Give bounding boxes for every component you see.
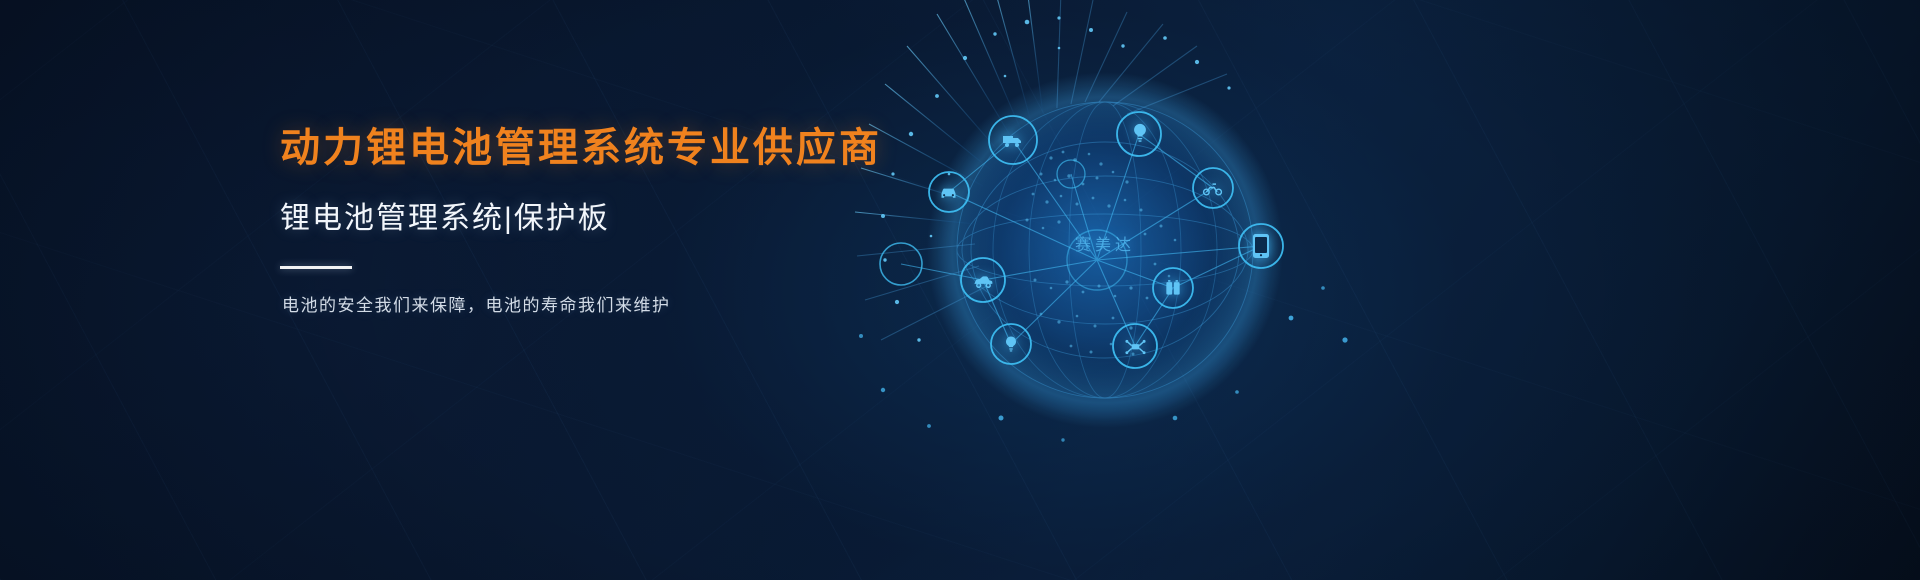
battery-pack-icon — [1163, 278, 1183, 298]
globe-brand-label: 赛美达 — [985, 231, 1225, 255]
bulb-small-icon — [1001, 334, 1021, 354]
car-side-icon — [972, 270, 995, 293]
page-title: 动力锂电池管理系统专业供应商 — [280, 128, 900, 168]
banner-text-block: 动力锂电池管理系统专业供应商 锂电池管理系统|保护板 电池的安全我们来保障，电池… — [280, 128, 900, 314]
hero-banner: 赛美达 动力锂电池管理系统专业供应商 锂电池管理系统|保护板 电池的安全我们来保… — [0, 0, 1920, 580]
lightbulb-icon — [1129, 122, 1151, 144]
banner-tagline: 电池的安全我们来保障，电池的寿命我们来维护 — [282, 297, 900, 314]
smartphone-icon — [1251, 233, 1271, 259]
network-globe-graphic: 赛美达 — [845, 0, 1365, 508]
truck-icon — [1001, 128, 1025, 152]
car-front-icon — [938, 182, 959, 203]
motorcycle-icon — [1202, 178, 1223, 199]
banner-subtitle: 锂电池管理系统|保护板 — [280, 204, 900, 234]
title-divider — [280, 266, 352, 269]
drone-icon — [1124, 335, 1147, 358]
